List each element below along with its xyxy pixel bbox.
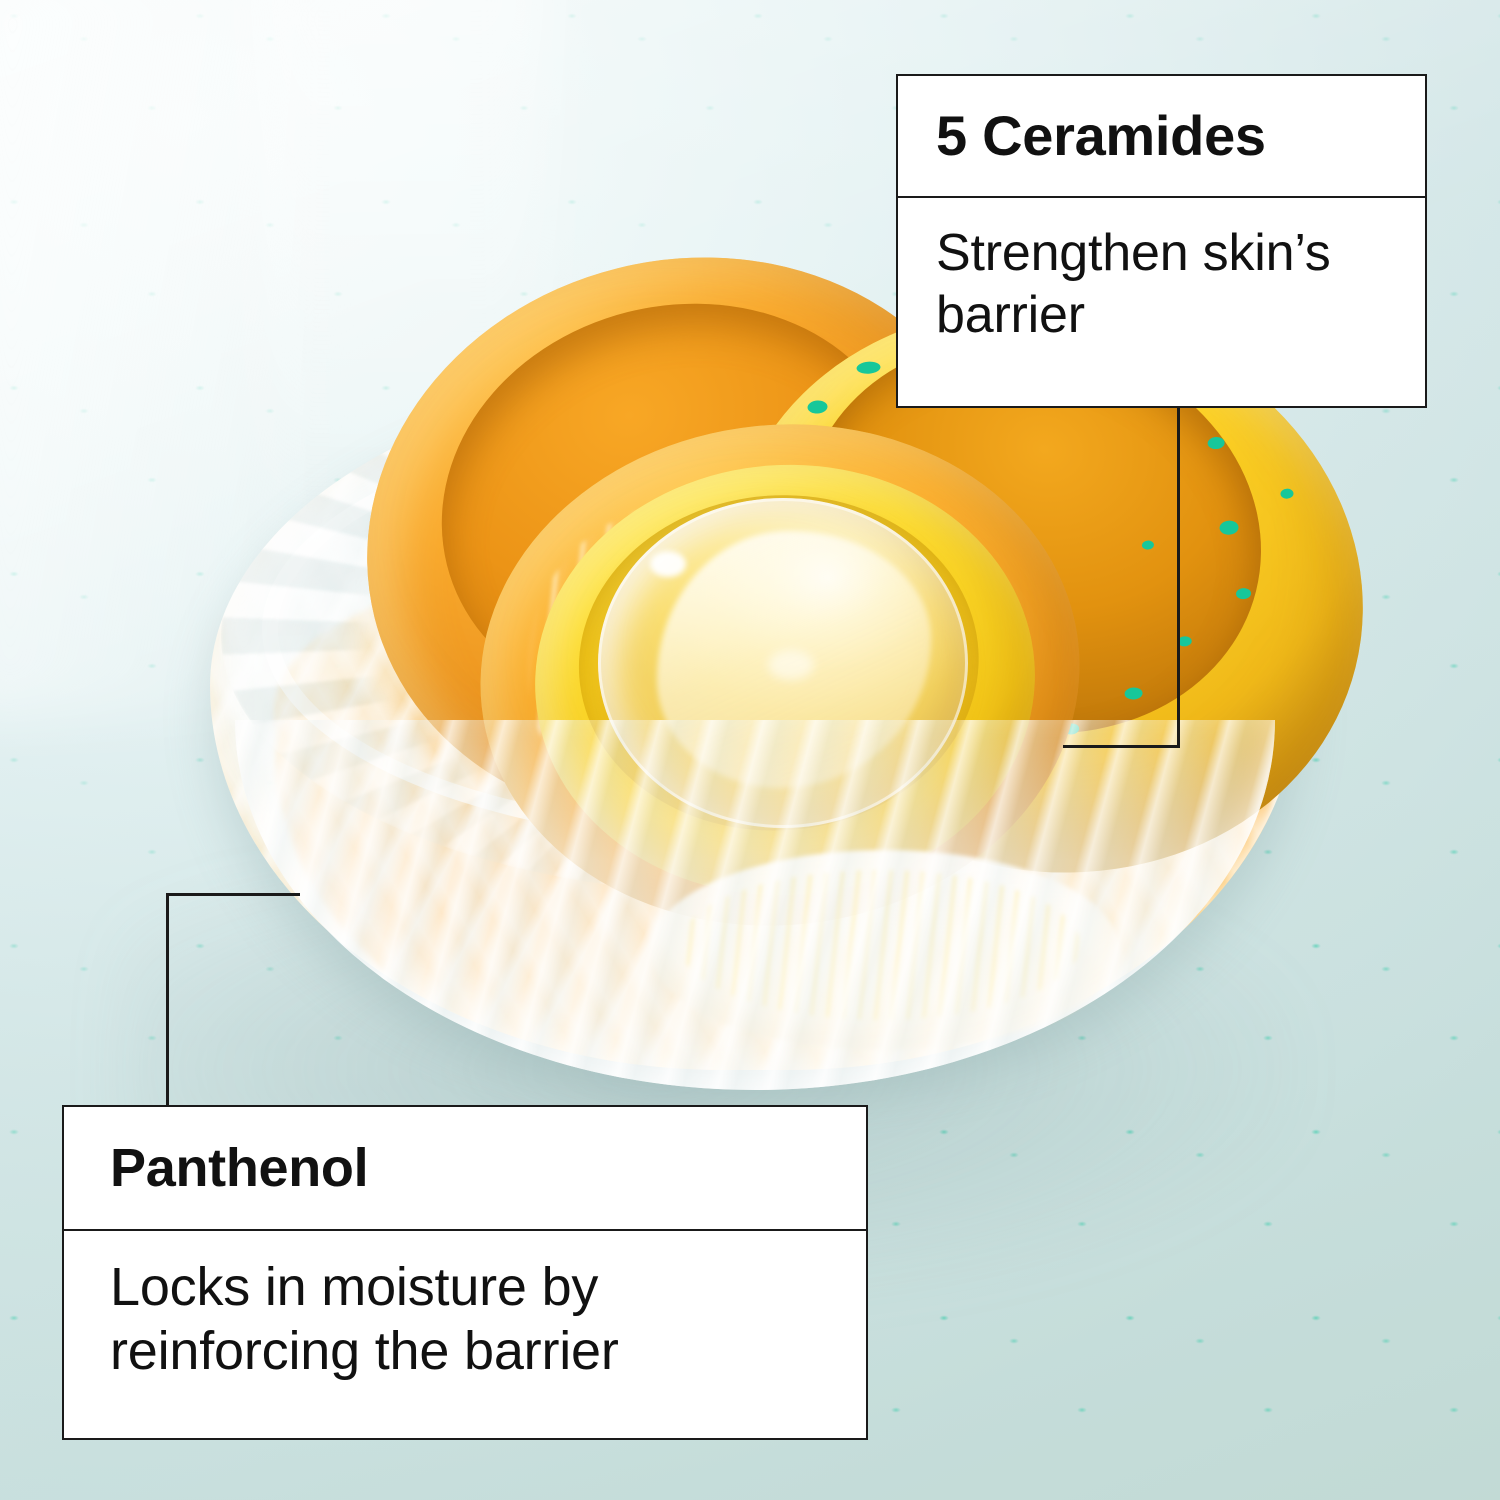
callout-ceramides: 5 Ceramides Strengthen skin’s barrier	[896, 74, 1427, 408]
leader-line-panthenol-vertical	[166, 893, 169, 1107]
callout-ceramides-title: 5 Ceramides	[898, 76, 1425, 196]
leader-line-panthenol-horizontal	[166, 893, 300, 896]
callout-panthenol-body: Locks in moisture by reinforcing the bar…	[64, 1231, 866, 1383]
speckle	[856, 361, 881, 375]
layer-white-front-streaks	[680, 870, 1080, 1020]
leader-line-ceramides-horizontal	[1063, 745, 1180, 748]
gel-core	[598, 498, 968, 828]
infographic-scene: 5 Ceramides Strengthen skin’s barrier Pa…	[0, 0, 1500, 1500]
speckle	[807, 400, 828, 414]
callout-panthenol: Panthenol Locks in moisture by reinforci…	[62, 1105, 868, 1440]
gel-edge	[598, 498, 968, 828]
leader-line-ceramides-vertical	[1177, 406, 1180, 748]
speckle	[1235, 587, 1251, 599]
speckle	[1280, 488, 1294, 499]
callout-ceramides-body: Strengthen skin’s barrier	[898, 198, 1425, 346]
speckle	[1207, 436, 1225, 449]
callout-panthenol-title: Panthenol	[64, 1107, 866, 1229]
